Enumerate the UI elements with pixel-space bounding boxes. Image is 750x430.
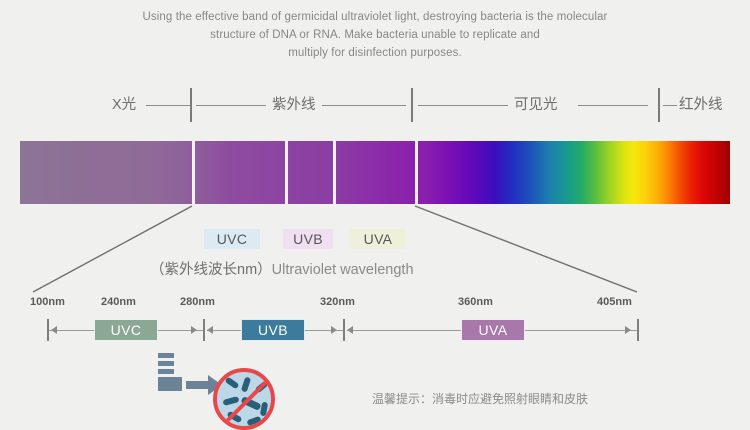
nm-label-100: 100nm (30, 296, 65, 308)
arrow-right-280 (191, 326, 197, 334)
nm-label-240: 240nm (101, 296, 136, 308)
header-line-3: multiply for disinfection purposes. (0, 44, 750, 62)
axis-band-uvb: UVB (241, 319, 305, 341)
axis-band-uvc: UVC (94, 319, 158, 341)
germ-shape (246, 416, 261, 426)
caption-english: Ultraviolet wavelength (272, 262, 414, 278)
rule-vis-left (418, 105, 508, 106)
badge-uvb: UVB (283, 229, 333, 249)
band-label-xray: X光 (112, 92, 136, 118)
connector-right (415, 206, 637, 292)
arrow-left-320 (347, 326, 353, 334)
rule-uv-left (196, 105, 266, 106)
arrow-left-280 (207, 326, 213, 334)
rule-ir (663, 105, 677, 106)
arrow-right-320 (331, 326, 337, 334)
connector-left (33, 206, 192, 292)
axis-seg-5 (347, 330, 461, 331)
rule-uv-right (322, 105, 406, 106)
header-line-2: structure of DNA or RNA. Make bacteria u… (0, 26, 750, 44)
spectrum-divider-4 (415, 141, 418, 204)
bottom-tip-text: 温馨提示：消毒时应避免照射眼睛和皮肤 (372, 390, 588, 407)
rule-xray (146, 105, 190, 106)
header-line-1: Using the effective band of germicidal u… (0, 8, 750, 26)
arrow-right-405 (625, 326, 631, 334)
spectrum-divider-1 (192, 141, 195, 204)
no-bacteria-icon (213, 368, 275, 430)
nm-label-360: 360nm (458, 296, 493, 308)
axis-seg-4 (305, 330, 343, 331)
badge-uva: UVA (350, 229, 406, 249)
spectrum-divider-3 (333, 141, 336, 204)
band-divider-1 (190, 88, 192, 122)
uv-spectrum-infographic: Using the effective band of germicidal u… (0, 0, 750, 402)
germ-shape (222, 396, 239, 406)
nm-label-405: 405nm (597, 296, 632, 308)
band-label-infrared: 红外线 (679, 92, 723, 118)
badge-uvc: UVC (204, 229, 260, 249)
germ-shape (241, 376, 251, 392)
header-description: Using the effective band of germicidal u… (0, 8, 750, 62)
spectrum-band-label-row: X光 紫外线 可见光 红外线 (0, 92, 750, 130)
arrow-left-100 (51, 326, 57, 334)
germ-shape (225, 377, 240, 390)
spectrum-gradient (20, 141, 730, 204)
wavelength-caption: （紫外线波长nm）Ultraviolet wavelength (150, 258, 414, 279)
nm-label-320: 320nm (320, 296, 355, 308)
band-label-uv: 紫外线 (272, 92, 316, 118)
axis-tick-320 (343, 319, 345, 341)
axis-tick-280 (203, 319, 205, 341)
band-label-visible: 可见光 (514, 92, 558, 118)
axis-tick-100 (47, 319, 49, 341)
band-divider-2 (411, 88, 413, 122)
spectrum-divider-2 (285, 141, 288, 204)
rule-vis-right (578, 105, 648, 106)
spectrum-bar-container (20, 141, 730, 204)
band-divider-3 (658, 88, 660, 122)
uv-intensity-bars-icon (158, 353, 182, 394)
axis-band-uva: UVA (461, 319, 525, 341)
germ-shape (260, 402, 268, 417)
caption-chinese: （紫外线波长nm） (150, 262, 272, 278)
nm-label-280: 280nm (180, 296, 215, 308)
axis-tick-405 (637, 319, 639, 341)
axis-seg-6 (525, 330, 637, 331)
